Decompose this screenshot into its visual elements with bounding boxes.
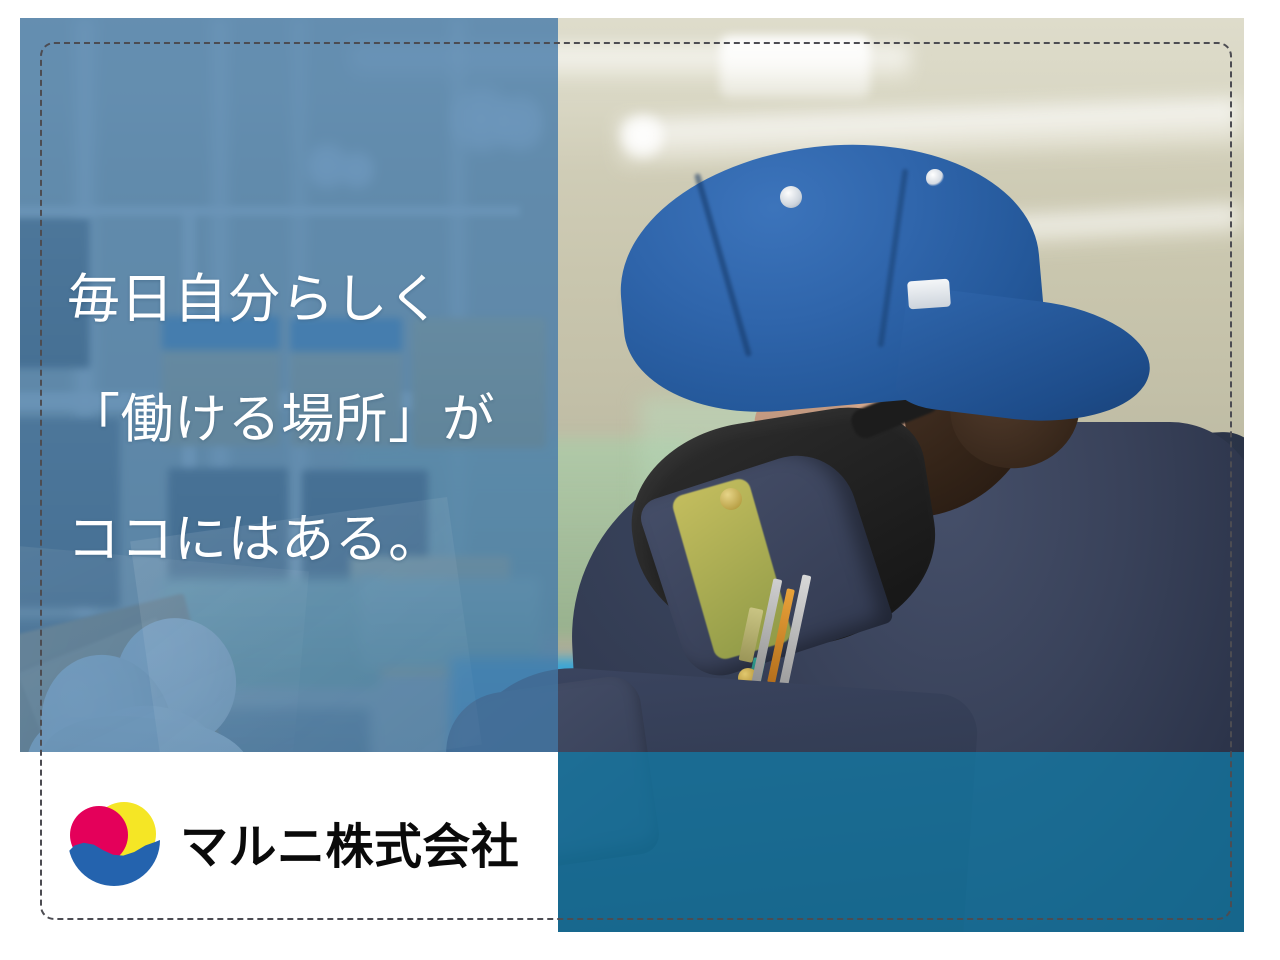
teal-overlay-strip	[558, 752, 1244, 932]
headline-line-2: 「働ける場所」が	[67, 360, 537, 480]
cap-eyelet	[926, 169, 944, 187]
cap-button	[780, 186, 802, 208]
logo-band: マルニ株式会社	[20, 752, 558, 932]
recruitment-banner: 毎日自分らしく 「働ける場所」が ココにはある。 マルニ株式会社	[0, 0, 1280, 960]
headline-line-1: 毎日自分らしく	[67, 240, 537, 360]
company-logo[interactable]: マルニ株式会社	[66, 800, 519, 884]
logo-mark-icon	[66, 800, 162, 884]
cap-clip	[907, 279, 951, 310]
uniform-badge	[720, 488, 742, 510]
company-name: マルニ株式会社	[180, 807, 519, 877]
banner-artwork: 毎日自分らしく 「働ける場所」が ココにはある。 マルニ株式会社	[20, 18, 1244, 932]
headline: 毎日自分らしく 「働ける場所」が ココにはある。	[67, 240, 537, 600]
headline-line-3: ココにはある。	[67, 480, 537, 600]
